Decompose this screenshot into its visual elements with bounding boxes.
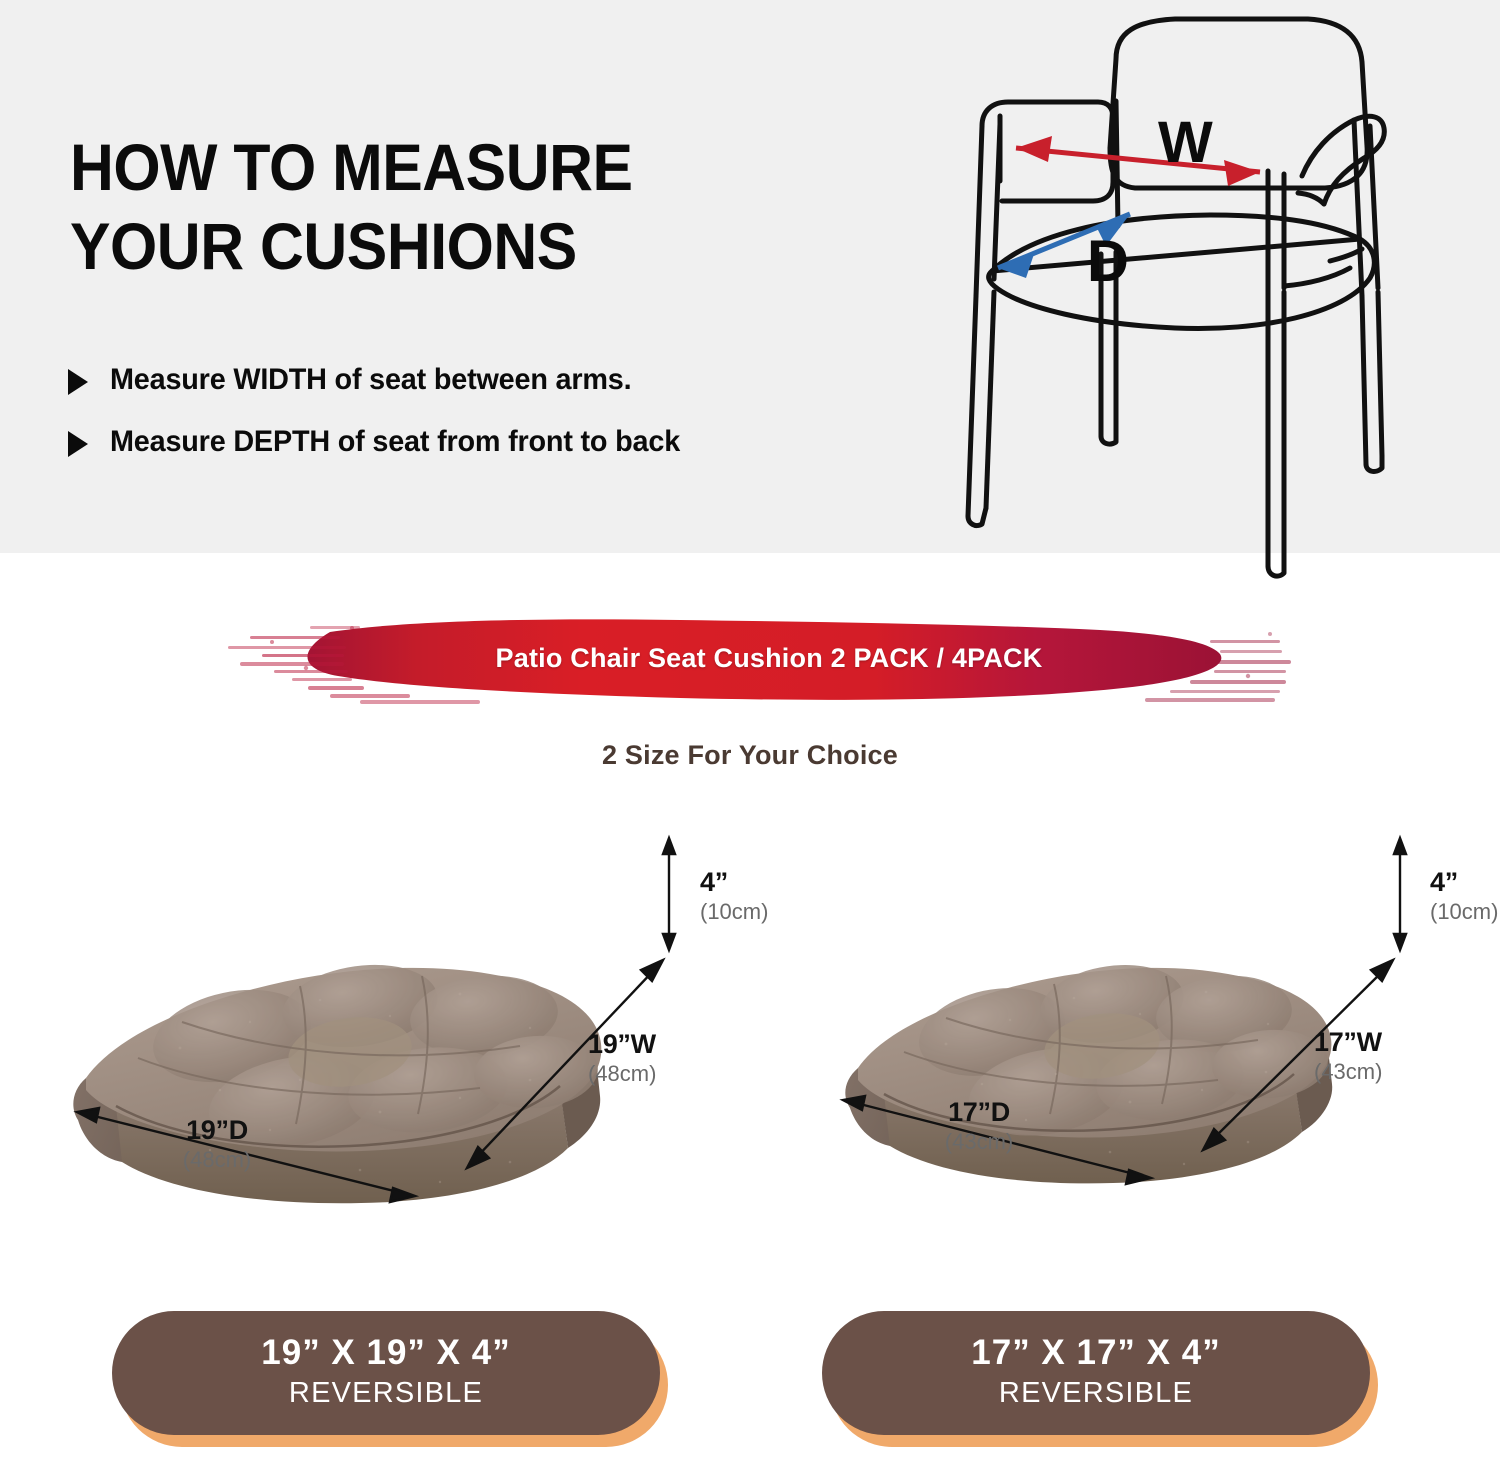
- badge-size-text: 17” X 17” X 4”: [971, 1333, 1220, 1373]
- height-inch: 4”: [700, 868, 768, 898]
- depth-cm: (43cm): [904, 1128, 1054, 1156]
- cushion-large-figure: 4” (10cm) 19”W (48cm) 19”D (48cm): [60, 790, 700, 1220]
- list-item: Measure DEPTH of seat from front to back: [68, 424, 908, 460]
- instruction-text: Measure DEPTH of seat from front to back: [110, 424, 680, 460]
- width-inch: 19”W: [588, 1030, 656, 1060]
- page-title: HOW TO MEASURE YOUR CUSHIONS: [70, 128, 797, 286]
- promo-banner: Patio Chair Seat Cushion 2 PACK / 4PACK: [210, 606, 1310, 711]
- height-cm: (10cm): [700, 898, 768, 926]
- height-dimension-large: 4” (10cm): [700, 868, 768, 925]
- list-item: Measure WIDTH of seat between arms.: [68, 362, 908, 398]
- badge-body[interactable]: 19” X 19” X 4” REVERSIBLE: [112, 1311, 660, 1435]
- triangle-bullet-icon: [68, 431, 88, 457]
- depth-inch: 17”D: [904, 1098, 1054, 1128]
- triangle-bullet-icon: [68, 369, 88, 395]
- width-arrow: [1016, 136, 1260, 186]
- height-inch: 4”: [1430, 868, 1498, 898]
- badge-size-text: 19” X 19” X 4”: [261, 1333, 510, 1373]
- infographic-canvas: HOW TO MEASURE YOUR CUSHIONS Measure WID…: [0, 0, 1500, 1460]
- depth-label: D: [1087, 229, 1129, 294]
- width-label: W: [1158, 110, 1213, 175]
- banner-text: Patio Chair Seat Cushion 2 PACK / 4PACK: [210, 606, 1310, 711]
- cushion-small-figure: 4” (10cm) 17”W (43cm) 17”D (43cm): [820, 790, 1440, 1220]
- width-dimension-large: 19”W (48cm): [588, 1030, 656, 1087]
- height-dimension-small: 4” (10cm): [1430, 868, 1498, 925]
- height-cm: (10cm): [1430, 898, 1498, 926]
- size-badge-small[interactable]: 17” X 17” X 4” REVERSIBLE: [822, 1311, 1382, 1451]
- badge-reversible-text: REVERSIBLE: [999, 1375, 1193, 1413]
- badge-reversible-text: REVERSIBLE: [289, 1375, 483, 1413]
- width-inch: 17”W: [1314, 1028, 1382, 1058]
- width-cm: (43cm): [1314, 1058, 1382, 1086]
- width-dimension-small: 17”W (43cm): [1314, 1028, 1382, 1085]
- subheading: 2 Size For Your Choice: [0, 740, 1500, 771]
- depth-cm: (48cm): [142, 1146, 292, 1174]
- chair-measure-diagram: W D: [930, 0, 1500, 616]
- depth-inch: 19”D: [142, 1116, 292, 1146]
- depth-dimension-small: 17”D (43cm): [904, 1098, 1054, 1155]
- width-cm: (48cm): [588, 1060, 656, 1088]
- instruction-text: Measure WIDTH of seat between arms.: [110, 362, 631, 398]
- depth-dimension-large: 19”D (48cm): [142, 1116, 292, 1173]
- size-badge-large[interactable]: 19” X 19” X 4” REVERSIBLE: [112, 1311, 672, 1451]
- badge-body[interactable]: 17” X 17” X 4” REVERSIBLE: [822, 1311, 1370, 1435]
- instruction-list: Measure WIDTH of seat between arms. Meas…: [68, 362, 908, 486]
